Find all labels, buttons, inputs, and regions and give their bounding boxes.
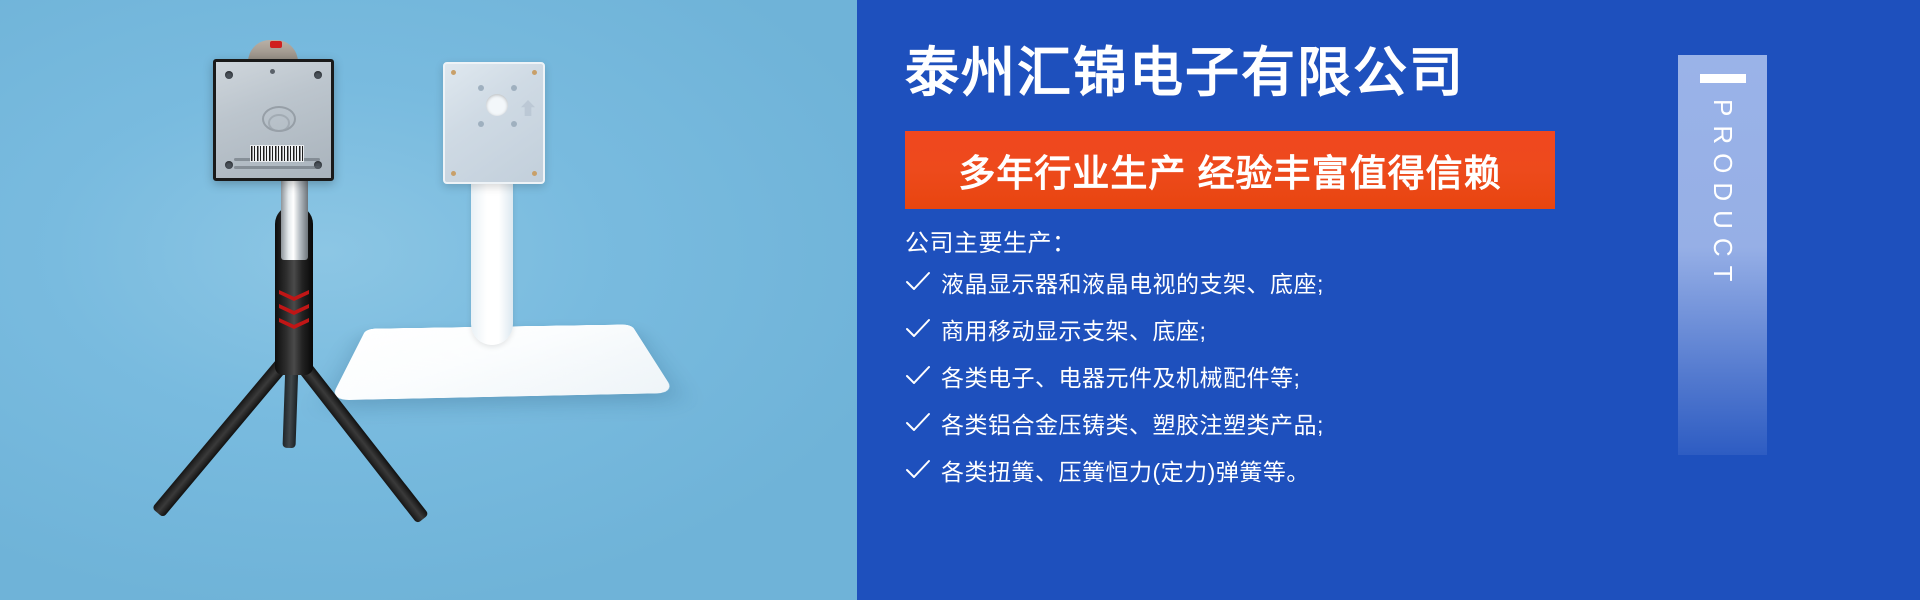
intro-label: 公司主要生产： [905, 223, 1077, 258]
vesa-screw-hole [511, 121, 517, 127]
red-chevron-decal [279, 290, 309, 336]
product-side-tab: PRODUCT [1678, 55, 1767, 455]
check-icon [905, 459, 941, 481]
photo-background [0, 0, 857, 600]
vesa-screw-hole [225, 161, 233, 169]
white-stand-vesa-plate [443, 62, 545, 184]
info-panel: 泰州汇锦电子有限公司 多年行业生产 经验丰富值得信赖 公司主要生产： 液晶显示器… [857, 0, 1920, 600]
feature-list: 液晶显示器和液晶电视的支架、底座; 商用移动显示支架、底座; 各类电子、电器元件… [905, 258, 1545, 493]
check-icon [905, 412, 941, 434]
check-icon [905, 271, 941, 293]
tripod-red-marker [270, 41, 282, 48]
corner-screw [532, 70, 537, 75]
plate-slot [234, 166, 320, 169]
chevron-icon [279, 318, 309, 329]
corner-screw [532, 171, 537, 176]
tripod-vesa-plate [213, 59, 334, 181]
vesa-screw-hole [314, 71, 322, 79]
product-photo-panel [0, 0, 857, 600]
slogan-text: 多年行业生产 经验丰富值得信赖 [958, 143, 1501, 197]
product-tab-label: PRODUCT [1707, 99, 1738, 291]
vesa-screw-hole [478, 85, 484, 91]
list-item-label: 各类扭簧、压簧恒力(定力)弹簧等。 [941, 453, 1310, 487]
list-item: 各类电子、电器元件及机械配件等; [905, 352, 1545, 399]
vesa-screw-hole [478, 121, 484, 127]
check-icon [905, 365, 941, 387]
promo-banner: 泰州汇锦电子有限公司 多年行业生产 经验丰富值得信赖 公司主要生产： 液晶显示器… [0, 0, 1920, 600]
list-item: 各类扭簧、压簧恒力(定力)弹簧等。 [905, 446, 1545, 493]
company-title: 泰州汇锦电子有限公司 [905, 42, 1465, 104]
list-item-label: 商用移动显示支架、底座; [941, 312, 1206, 346]
list-item: 液晶显示器和液晶电视的支架、底座; [905, 258, 1545, 305]
plate-logo-inner-icon [268, 114, 290, 132]
chevron-icon [279, 304, 309, 315]
corner-screw [451, 171, 456, 176]
vesa-center-hole [486, 94, 508, 116]
check-icon [905, 318, 941, 340]
list-item: 商用移动显示支架、底座; [905, 305, 1545, 352]
tripod-chrome-riser [281, 168, 308, 260]
plate-pin-hole [270, 69, 275, 74]
list-item: 各类铝合金压铸类、塑胶注塑类产品; [905, 399, 1545, 446]
list-item-label: 各类电子、电器元件及机械配件等; [941, 359, 1300, 393]
chevron-icon [279, 290, 309, 301]
white-stand-column [471, 175, 513, 345]
list-item-label: 液晶显示器和液晶电视的支架、底座; [941, 265, 1324, 299]
vesa-screw-hole [511, 85, 517, 91]
dash-icon [1700, 74, 1746, 83]
corner-screw [451, 70, 456, 75]
slogan-badge: 多年行业生产 经验丰富值得信赖 [905, 131, 1555, 209]
barcode-label [250, 145, 304, 162]
up-arrow-icon [521, 100, 535, 116]
vesa-screw-hole [225, 71, 233, 79]
list-item-label: 各类铝合金压铸类、塑胶注塑类产品; [941, 406, 1324, 440]
